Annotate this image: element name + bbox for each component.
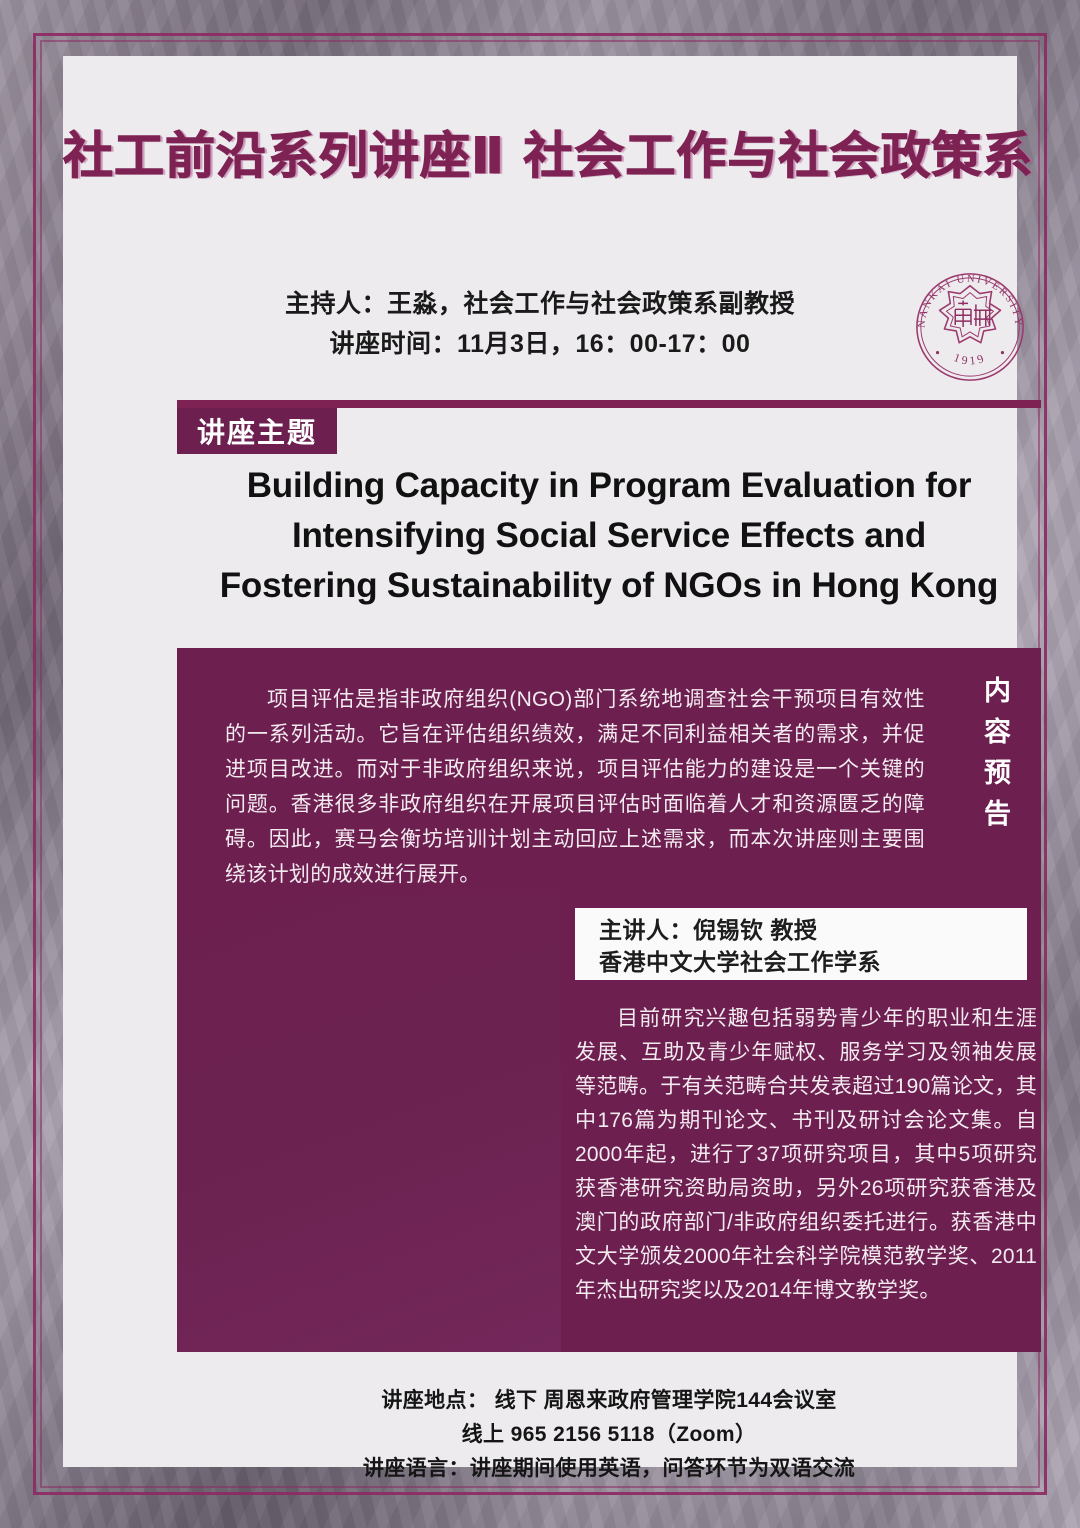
abstract-body-text: 项目评估是指非政府组织(NGO)部门系统地调查社会干预项目有效性的一系列活动。它… (225, 682, 925, 892)
topic-tag-label: 讲座主题 (177, 408, 337, 454)
lecture-title-line-1: Building Capacity in Program Evaluation … (177, 461, 1041, 511)
lecture-logistics-footer: 讲座地点： 线下 周恩来政府管理学院144会议室 线上 965 2156 511… (177, 1384, 1041, 1486)
topic-header-bar (177, 400, 1041, 408)
poster-banner-title: 社工前沿系列讲座Ⅱ 社会工作与社会政策系 (63, 116, 1017, 188)
host-info-block: 主持人：王淼，社会工作与社会政策系副教授 讲座时间：11月3日，16：00-17… (63, 284, 1017, 364)
speaker-panel: 主讲人：倪锡钦 教授 香港中文大学社会工作学系 目前研究兴趣包括弱势青少年的职业… (177, 894, 1041, 1352)
lecture-time-line: 讲座时间：11月3日，16：00-17：00 (63, 324, 1017, 364)
svg-text:NANKAI UNIVERSITY: NANKAI UNIVERSITY (917, 274, 1024, 329)
lecture-title-line-2: Intensifying Social Service Effects and (177, 511, 1041, 561)
poster-card: 社工前沿系列讲座Ⅱ 社会工作与社会政策系 主持人：王淼，社会工作与社会政策系副教… (63, 56, 1017, 1467)
nankai-university-seal-icon: NANKAI UNIVERSITY 1919 (911, 268, 1029, 386)
lecture-title-line-3: Fostering Sustainability of NGOs in Hong… (177, 561, 1041, 611)
footer-online-line: 线上 965 2156 5118（Zoom） (177, 1418, 1041, 1452)
speaker-name: 主讲人：倪锡钦 教授 (599, 914, 1027, 946)
footer-language-line: 讲座语言：讲座期间使用英语，问答环节为双语交流 (177, 1452, 1041, 1486)
speaker-portrait-photo (177, 894, 561, 1352)
speaker-affiliation: 香港中文大学社会工作学系 (599, 946, 1027, 978)
abstract-vertical-label: 内容预告 (973, 676, 1017, 840)
abstract-panel: 项目评估是指非政府组织(NGO)部门系统地调查社会干预项目有效性的一系列活动。它… (177, 648, 1041, 894)
lecture-title: Building Capacity in Program Evaluation … (177, 461, 1041, 611)
speaker-name-card: 主讲人：倪锡钦 教授 香港中文大学社会工作学系 (575, 908, 1027, 980)
host-name-line: 主持人：王淼，社会工作与社会政策系副教授 (63, 284, 1017, 324)
speaker-biography: 目前研究兴趣包括弱势青少年的职业和生涯发展、互助及青少年赋权、服务学习及领袖发展… (575, 1002, 1037, 1308)
footer-venue-line: 讲座地点： 线下 周恩来政府管理学院144会议室 (177, 1384, 1041, 1418)
svg-text:1919: 1919 (952, 350, 988, 367)
